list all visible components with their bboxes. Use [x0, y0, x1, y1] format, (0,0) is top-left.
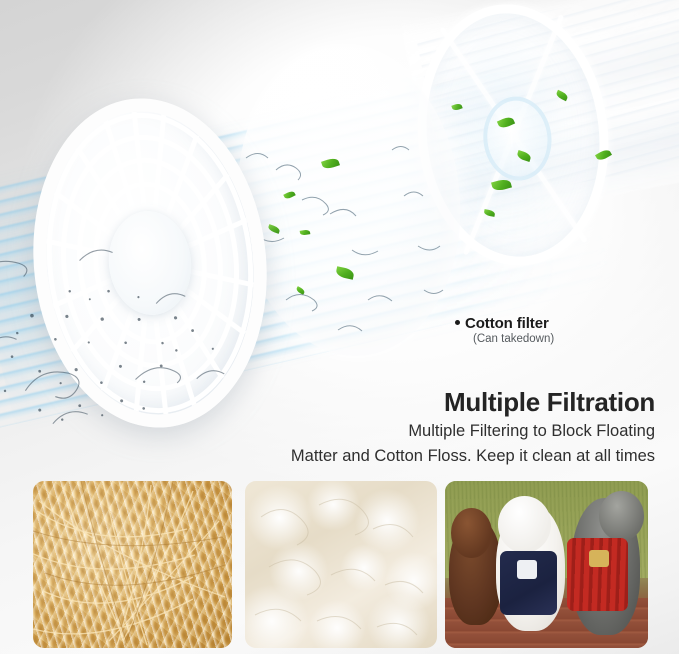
callout-note: (Can takedown) — [473, 333, 665, 345]
jersey-crest — [589, 550, 610, 568]
dogs-photo — [445, 481, 648, 648]
dogs-scene — [445, 481, 648, 648]
cotton-floss-photo — [245, 481, 437, 648]
white-bichon-head — [498, 496, 551, 553]
headline-subtitle-line2: Matter and Cotton Floss. Keep it clean a… — [235, 446, 655, 468]
product-marketing-image: Cotton filter (Can takedown) Multiple Fi… — [0, 0, 679, 654]
red-jersey — [567, 538, 628, 611]
headline-title: Multiple Filtration — [235, 388, 655, 418]
navy-jersey — [500, 551, 557, 614]
callout-label: Cotton filter — [465, 315, 549, 332]
brown-poodle-head — [451, 508, 492, 558]
photo-strip — [0, 475, 679, 654]
pet-hair-photo — [33, 481, 232, 648]
jersey-patch — [517, 560, 537, 579]
cotton-filter-callout: Cotton filter (Can takedown) — [455, 315, 665, 345]
headline-subtitle-line1: Multiple Filtering to Block Floating — [235, 421, 655, 443]
gray-schnauzer-head — [599, 491, 644, 541]
headline-block: Multiple Filtration Multiple Filtering t… — [235, 388, 655, 468]
bullet-icon — [455, 320, 460, 325]
